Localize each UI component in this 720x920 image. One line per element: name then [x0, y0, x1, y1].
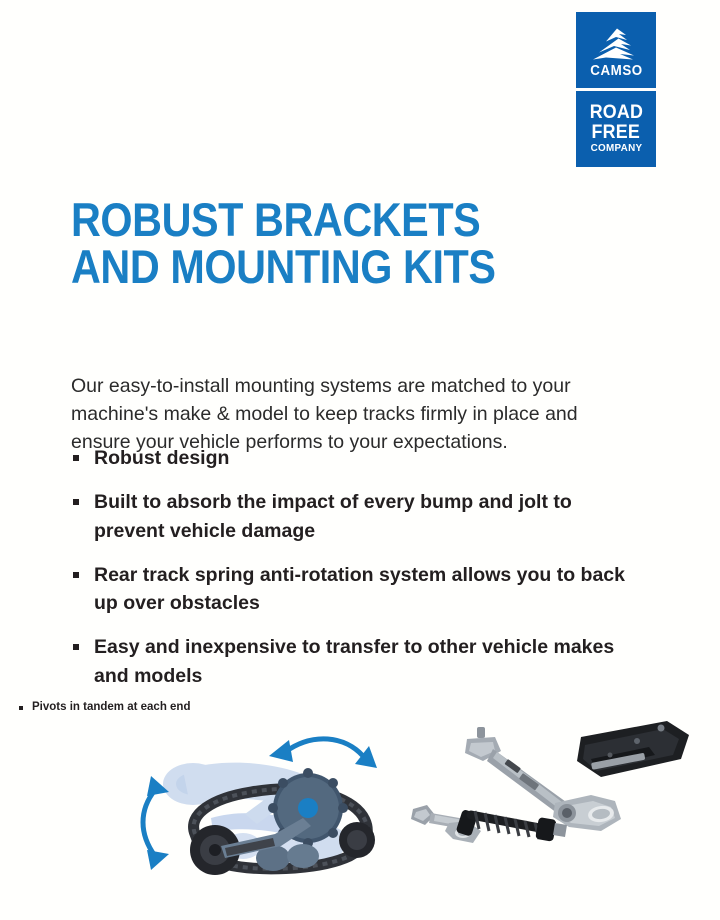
page-title: ROBUST BRACKETS AND MOUNTING KITS — [71, 197, 564, 289]
illustration-caption: Pivots in tandem at each end — [17, 700, 190, 715]
tagline-company: COMPANY — [590, 143, 642, 153]
page-title-line-2: AND MOUNTING KITS — [71, 244, 564, 290]
black-mounting-bracket-photo — [577, 721, 689, 777]
hardware-photos — [405, 715, 705, 880]
sprocket-hub — [298, 798, 318, 818]
camso-logo-primary-block: CAMSO — [576, 12, 656, 88]
pivot-arrow-left-head-bottom — [147, 850, 169, 870]
tagline-free: FREE — [592, 124, 640, 143]
pivot-arrow-top-head-left — [269, 740, 293, 762]
road-free-company-block: ROAD FREE COMPANY — [576, 91, 656, 167]
list-item: Built to absorb the impact of every bump… — [71, 488, 636, 545]
pivot-arrow-top — [285, 739, 363, 756]
tagline-road: ROAD — [589, 104, 642, 123]
camso-logo: CAMSO ROAD FREE COMPANY — [576, 12, 656, 167]
list-item: Easy and inexpensive to transfer to othe… — [71, 633, 636, 690]
pivot-arrow-left — [143, 790, 155, 856]
list-item: Rear track spring anti-rotation system a… — [71, 561, 636, 618]
spring-damper-assembly-photo — [411, 805, 567, 843]
camso-wordmark: CAMSO — [590, 64, 642, 79]
feature-bullet-list: Robust design Built to absorb the impact… — [71, 444, 636, 706]
track-system-pivot-diagram — [125, 722, 415, 887]
list-item: Robust design — [71, 444, 636, 472]
camso-tree-icon — [591, 26, 641, 62]
page-title-line-1: ROBUST BRACKETS — [71, 197, 564, 243]
